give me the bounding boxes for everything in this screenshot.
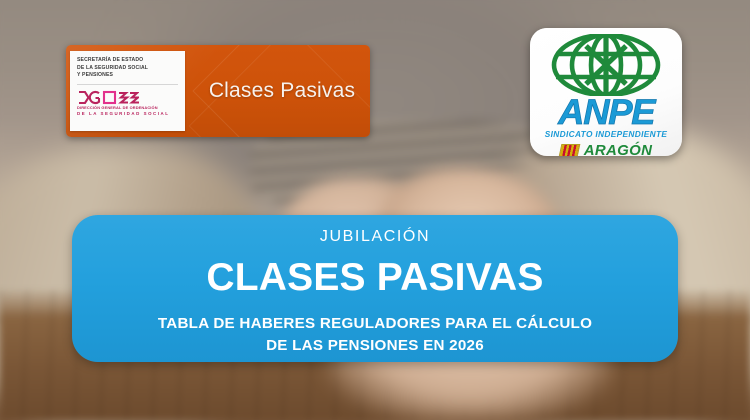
orange-banner-title: Clases Pasivas [194, 45, 370, 137]
seguridad-social-logo-text: SECRETARÍA DE ESTADO DE LA SEGURIDAD SOC… [70, 51, 185, 83]
anpe-region-label: ARAGÓN [584, 142, 652, 156]
dgoss-wordmark-icon [77, 90, 179, 105]
logo-line-1: SECRETARÍA DE ESTADO [77, 57, 179, 65]
globe-icon [550, 34, 662, 101]
poster-canvas: SECRETARÍA DE ESTADO DE LA SEGURIDAD SOC… [0, 0, 750, 420]
banner-subtitle-line-2: DE LAS PENSIONES EN 2026 [158, 335, 592, 357]
banner-title: CLASES PASIVAS [206, 258, 543, 297]
dgoss-subline-2: DE LA SEGURIDAD SOCIAL [77, 111, 179, 117]
banner-kicker: JUBILACIÓN [320, 229, 430, 245]
banner-subtitle: TABLA DE HABERES REGULADORES PARA EL CÁL… [158, 313, 592, 356]
banner-subtitle-line-1: TABLA DE HABERES REGULADORES PARA EL CÁL… [158, 313, 592, 335]
seguridad-social-logo: SECRETARÍA DE ESTADO DE LA SEGURIDAD SOC… [70, 51, 185, 131]
anpe-wordmark: ANPE [558, 95, 654, 130]
anpe-region-row: ARAGÓN [560, 142, 652, 156]
clases-pasivas-orange-banner: SECRETARÍA DE ESTADO DE LA SEGURIDAD SOC… [66, 45, 370, 137]
aragon-flag-icon [558, 144, 580, 156]
dgoss-block: DIRECCIÓN GENERAL DE ORDENACIÓN DE LA SE… [70, 85, 185, 121]
anpe-logo-badge: ANPE SINDICATO INDEPENDIENTE ARAGÓN [530, 28, 682, 156]
logo-line-3: Y PENSIONES [77, 72, 179, 80]
logo-line-2: DE LA SEGURIDAD SOCIAL [77, 65, 179, 73]
main-blue-banner: JUBILACIÓN CLASES PASIVAS TABLA DE HABER… [72, 215, 678, 362]
